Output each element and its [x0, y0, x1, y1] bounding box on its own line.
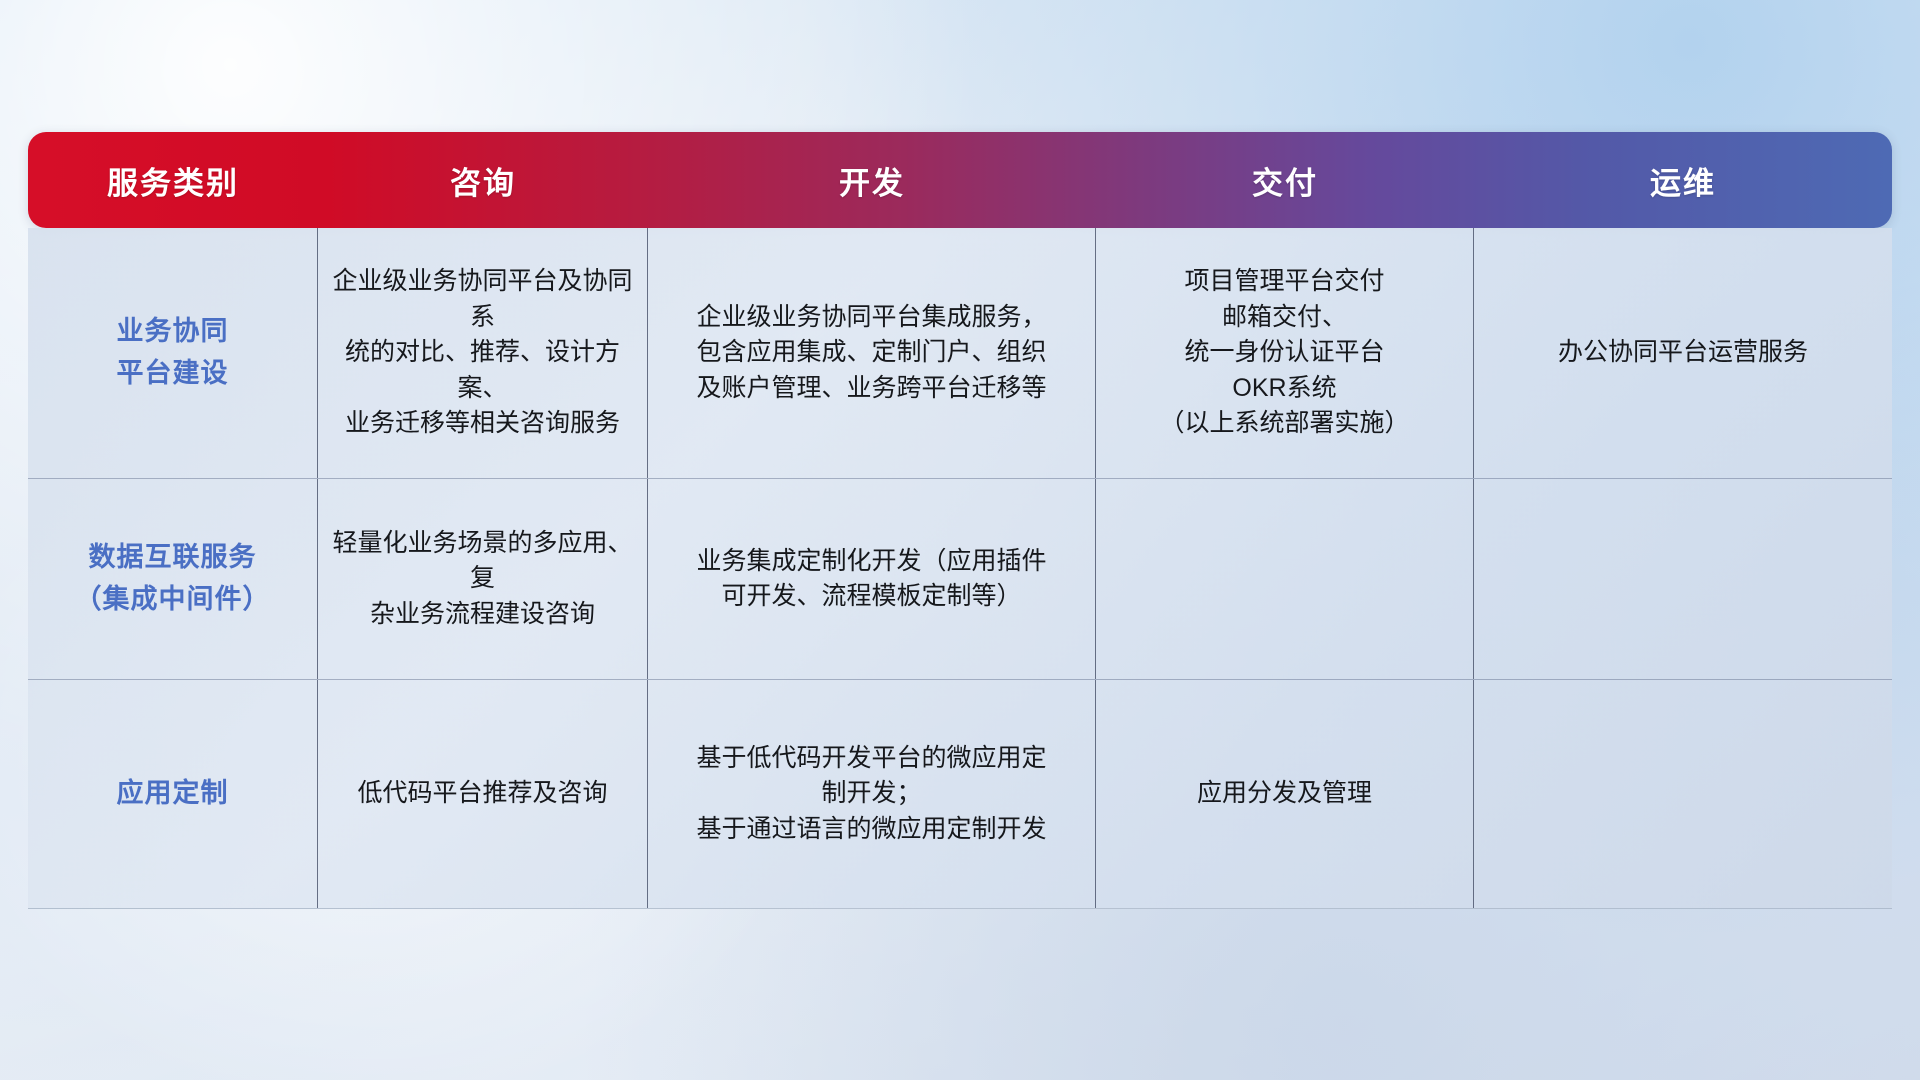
cell-app-customization-consulting: 低代码平台推荐及咨询: [318, 680, 648, 908]
table-row: 业务协同 平台建设 企业级业务协同平台及协同系 统的对比、推荐、设计方案、 业务…: [28, 228, 1892, 479]
cell-business-collaboration-delivery: 项目管理平台交付 邮箱交付、 统一身份认证平台 OKR系统 （以上系统部署实施）: [1096, 228, 1474, 478]
column-header-consulting: 咨询: [318, 132, 648, 228]
service-matrix-table: 服务类别 咨询 开发 交付 运维 业务协同 平台建设 企业级业务协同平台及协同系…: [28, 132, 1892, 909]
cell-business-collaboration-consulting: 企业级业务协同平台及协同系 统的对比、推荐、设计方案、 业务迁移等相关咨询服务: [318, 228, 648, 478]
column-header-operations: 运维: [1474, 132, 1892, 228]
cell-business-collaboration-development: 企业级业务协同平台集成服务， 包含应用集成、定制门户、组织 及账户管理、业务跨平…: [648, 228, 1096, 478]
cell-app-customization-delivery: 应用分发及管理: [1096, 680, 1474, 908]
column-header-delivery: 交付: [1096, 132, 1474, 228]
table-row: 应用定制 低代码平台推荐及咨询 基于低代码开发平台的微应用定 制开发； 基于通过…: [28, 680, 1892, 908]
column-header-development: 开发: [648, 132, 1096, 228]
cell-data-interconnect-consulting: 轻量化业务场景的多应用、复 杂业务流程建设咨询: [318, 479, 648, 679]
cell-app-customization-operations: [1474, 680, 1892, 908]
cell-data-interconnect-delivery: [1096, 479, 1474, 679]
row-label-app-customization: 应用定制: [28, 680, 318, 908]
cell-business-collaboration-operations: 办公协同平台运营服务: [1474, 228, 1892, 478]
row-label-data-interconnect: 数据互联服务 （集成中间件）: [28, 479, 318, 679]
table-body: 业务协同 平台建设 企业级业务协同平台及协同系 统的对比、推荐、设计方案、 业务…: [28, 228, 1892, 909]
table-header-row: 服务类别 咨询 开发 交付 运维: [28, 132, 1892, 228]
cell-data-interconnect-operations: [1474, 479, 1892, 679]
cell-app-customization-development: 基于低代码开发平台的微应用定 制开发； 基于通过语言的微应用定制开发: [648, 680, 1096, 908]
row-label-business-collaboration: 业务协同 平台建设: [28, 228, 318, 478]
cell-data-interconnect-development: 业务集成定制化开发（应用插件 可开发、流程模板定制等）: [648, 479, 1096, 679]
column-header-category: 服务类别: [28, 132, 318, 228]
table-row: 数据互联服务 （集成中间件） 轻量化业务场景的多应用、复 杂业务流程建设咨询 业…: [28, 479, 1892, 680]
